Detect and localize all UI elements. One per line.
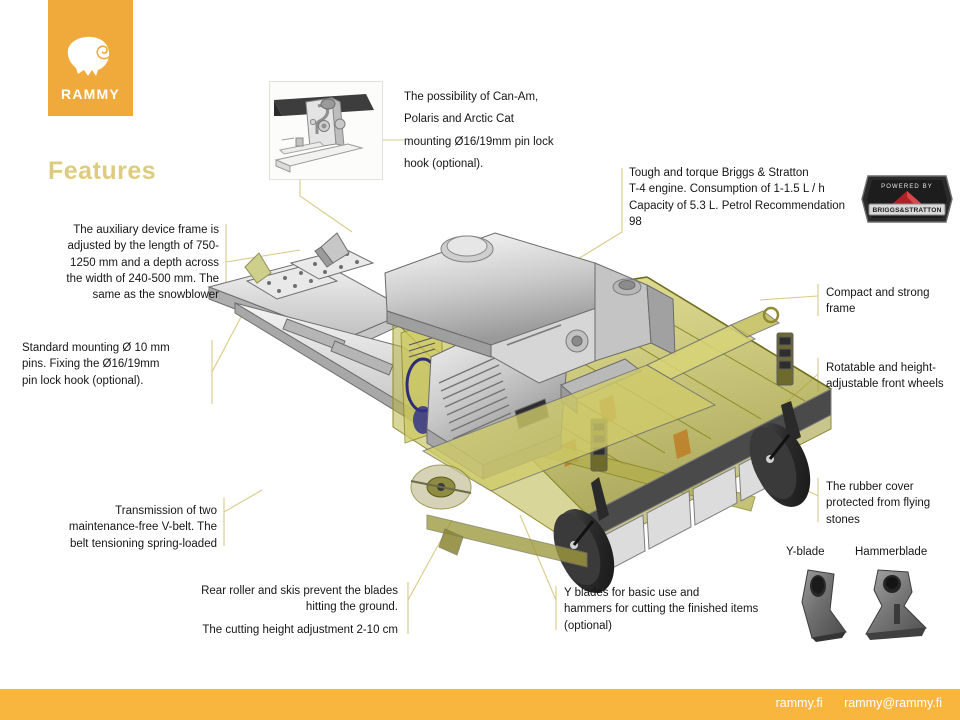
footer-email[interactable]: rammy@rammy.fi [844,696,942,710]
callout-engine: Tough and torque Briggs & Stratton T-4 e… [629,165,845,230]
flail-mower-illustration [195,215,845,635]
callout-mounting-pins: Standard mounting Ø 10 mm pins. Fixing t… [22,340,170,389]
rammy-logo: RAMMY [48,0,133,116]
callout-frame-adjust: The auxiliary device frame is adjusted b… [14,222,219,304]
pin-lock-hook-thumbnail [269,81,383,180]
callout-front-wheels: Rotatable and height- adjustable front w… [826,360,944,393]
footer-bar: rammy.fi rammy@rammy.fi [0,689,960,720]
callout-rear-roller: Rear roller and skis prevent the blades … [180,583,398,638]
callout-compact-frame: Compact and strong frame [826,285,930,318]
page-title: Features [48,157,156,186]
footer-website[interactable]: rammy.fi [776,696,823,710]
callout-hook-inset: The possibility of Can-Am, Polaris and A… [404,86,554,176]
callout-rubber-cover: The rubber cover protected from flying s… [826,479,930,528]
badge-powered-by-text: POWERED BY [881,184,933,190]
product-feature-diagram: RAMMY Features [0,0,960,720]
badge-brand-text: BRIGGS&STRATTON [872,207,941,214]
footer-links: rammy.fi rammy@rammy.fi [758,696,942,710]
y-blade-label: Y-blade [786,546,825,558]
logo-wordmark: RAMMY [48,86,133,102]
hammer-blade-image [860,566,930,644]
callout-blades-use: Y blades for basic use and hammers for c… [564,585,758,634]
hammer-blade-label: Hammerblade [855,546,927,558]
ram-icon [62,28,120,80]
callout-transmission: Transmission of two maintenance-free V-b… [14,503,217,552]
y-blade-image [790,566,852,644]
briggs-stratton-badge: POWERED BY BRIGGS&STRATTON [860,170,954,228]
